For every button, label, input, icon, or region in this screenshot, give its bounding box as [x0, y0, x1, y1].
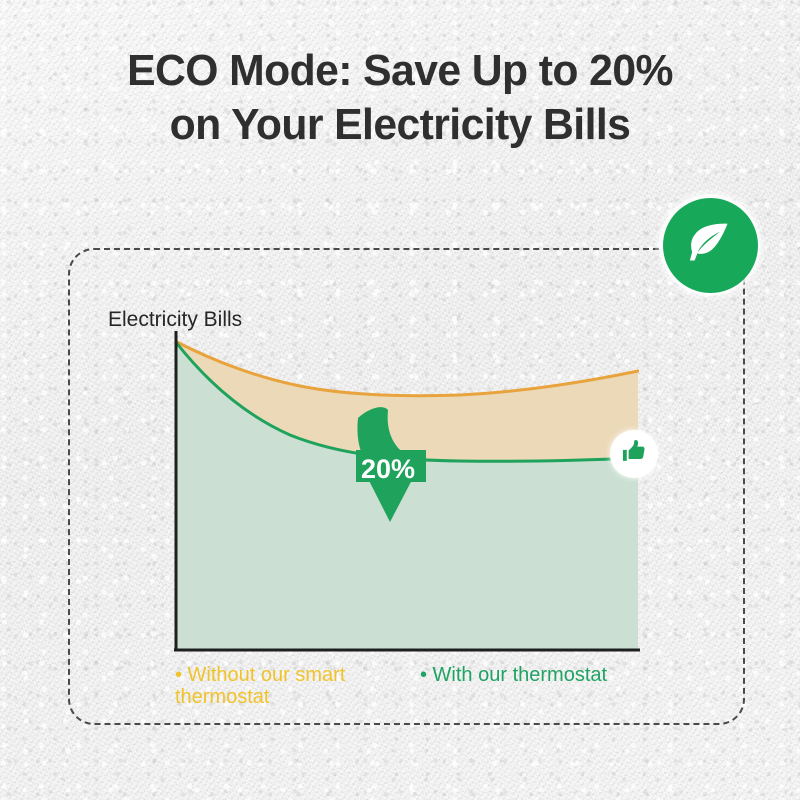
- electricity-bills-chart: 20% Electricity Bills: [0, 0, 800, 800]
- eco-mode-poster: ECO Mode: Save Up to 20% on Your Electri…: [0, 0, 800, 800]
- savings-percentage-label: 20%: [361, 454, 415, 484]
- thumbs-up-badge: [610, 430, 658, 478]
- chart-svg: 20%: [0, 0, 800, 800]
- legend-item-with-thermostat: • With our thermostat: [420, 664, 680, 686]
- legend-item-without-thermostat: • Without our smart thermostat: [175, 664, 385, 709]
- chart-y-axis-title: Electricity Bills: [108, 308, 242, 332]
- thumbs-up-icon: [620, 438, 648, 471]
